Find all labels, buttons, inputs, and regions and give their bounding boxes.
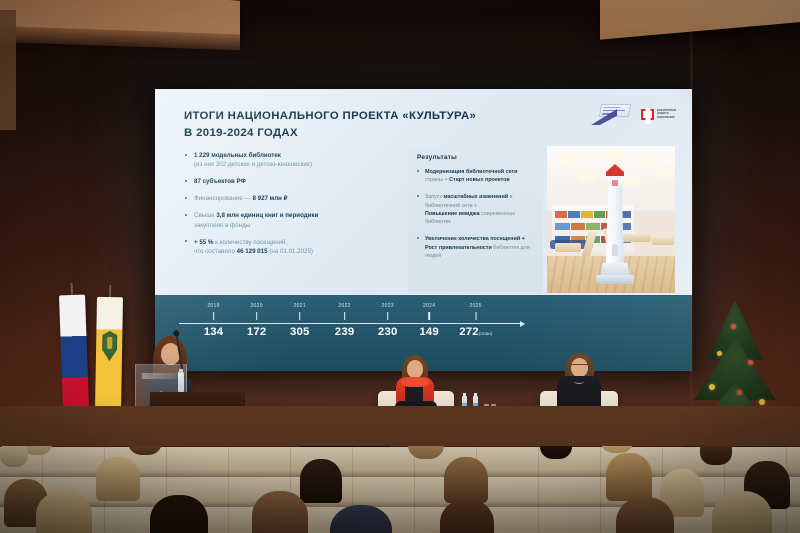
bullet-lead: Свыше bbox=[194, 212, 216, 219]
culture-project-logo-icon bbox=[591, 103, 631, 125]
bullet-lead-2: к количеству посещений, bbox=[213, 239, 287, 246]
timeline-year: 2020 bbox=[247, 303, 267, 309]
result-item: Увеличение количества посещений + Рост п… bbox=[417, 235, 534, 260]
timeline-point: 2022239 bbox=[335, 303, 355, 338]
bullet-strong: + 55 % bbox=[194, 239, 213, 246]
water-bottle bbox=[178, 372, 184, 392]
bullet-item: 87 субъектов РФ bbox=[185, 177, 415, 186]
timeline-tick bbox=[429, 312, 430, 320]
bullet-strong: 3,8 млн единиц книг и периодики bbox=[216, 212, 318, 219]
result-normal-1: Запуск bbox=[425, 194, 443, 200]
timeline-value: 134 bbox=[204, 326, 224, 338]
audience-person bbox=[606, 453, 652, 501]
bullet-sub-pre: что составило bbox=[194, 248, 237, 255]
audience-person bbox=[252, 491, 308, 533]
timeline-tick bbox=[344, 312, 345, 320]
bullet-lead: Финансирование — bbox=[194, 195, 252, 202]
ceiling-soffit-left bbox=[0, 0, 240, 43]
timeline-year: 2021 bbox=[290, 303, 310, 309]
bracket-mark-icon bbox=[641, 109, 654, 120]
timeline-value: 172 bbox=[247, 326, 267, 338]
bullet-sub: закуплено в фонды bbox=[194, 222, 250, 229]
slide-bullet-list: 1 229 модельных библиотек (из них 302 де… bbox=[185, 151, 415, 264]
timeline-point: 2021305 bbox=[290, 303, 310, 338]
audience-person bbox=[712, 491, 772, 533]
brand-line-3: ПОКОЛЕНИЯ bbox=[657, 116, 676, 120]
bullet-item: Свыше 3,8 млн единиц книг и периодики за… bbox=[185, 211, 415, 230]
timeline-tick bbox=[213, 312, 214, 320]
timeline-point: 2023230 bbox=[378, 303, 398, 338]
results-panel: Результаты Модернизация библиотечной сет… bbox=[408, 146, 543, 293]
conference-hall-scene: ИТОГИ НАЦИОНАЛЬНОГО ПРОЕКТА «КУЛЬТУРА» В… bbox=[0, 0, 800, 533]
bullet-strong: 1 229 модельных библиотек bbox=[194, 152, 281, 159]
timeline-value-note: (план) bbox=[479, 331, 492, 336]
stage-floor bbox=[0, 406, 800, 446]
timeline-tick bbox=[475, 312, 476, 320]
audience-person bbox=[150, 495, 208, 533]
bullet-item: Финансирование — 8 927 млн ₽ bbox=[185, 194, 415, 203]
bullet-strong: 87 субъектов РФ bbox=[194, 178, 246, 185]
timeline-year: 2025 bbox=[459, 303, 492, 309]
audience-person bbox=[96, 457, 140, 501]
timeline-tick bbox=[387, 312, 388, 320]
result-strong-2: Старт новых проектов bbox=[449, 177, 510, 183]
result-item: Модернизация библиотечной сети страны + … bbox=[417, 168, 534, 185]
timeline-value-number: 272 bbox=[459, 326, 479, 338]
glasses-icon bbox=[571, 364, 588, 367]
timeline-value: 230 bbox=[378, 326, 398, 338]
timeline-year: 2024 bbox=[419, 303, 439, 309]
necklace-icon bbox=[574, 378, 584, 384]
audience-person bbox=[300, 459, 342, 503]
wall-pillar-left bbox=[0, 10, 16, 130]
results-heading: Результаты bbox=[417, 154, 534, 161]
result-normal-1: страны + bbox=[425, 177, 449, 183]
audience-person bbox=[36, 491, 92, 533]
slide-title-line-2: В 2019-2024 ГОДАХ bbox=[184, 125, 514, 142]
timeline-value: 305 bbox=[290, 326, 310, 338]
bullet-item: 1 229 модельных библиотек (из них 302 де… bbox=[185, 151, 415, 170]
lighthouse-icon bbox=[595, 164, 635, 289]
timeline-value: 239 bbox=[335, 326, 355, 338]
timeline-year: 2023 bbox=[378, 303, 398, 309]
bullet-sub: (из них 302 детских и детско-юношеских) bbox=[194, 161, 312, 168]
slide: ИТОГИ НАЦИОНАЛЬНОГО ПРОЕКТА «КУЛЬТУРА» В… bbox=[155, 89, 692, 371]
bullet-sub-post: (на 01.01.2025) bbox=[268, 248, 313, 255]
timeline-year: 2022 bbox=[335, 303, 355, 309]
timeline-point: 2019134 bbox=[204, 303, 224, 338]
bullet-item: + 55 % к количеству посещений, что соста… bbox=[185, 238, 415, 257]
slide-title: ИТОГИ НАЦИОНАЛЬНОГО ПРОЕКТА «КУЛЬТУРА» В… bbox=[184, 108, 514, 141]
bullet-strong: 8 927 млн ₽ bbox=[252, 195, 287, 202]
timeline-year: 2019 bbox=[204, 303, 224, 309]
presentation-screen: ИТОГИ НАЦИОНАЛЬНОГО ПРОЕКТА «КУЛЬТУРА» В… bbox=[155, 89, 692, 371]
slide-title-line-1: ИТОГИ НАЦИОНАЛЬНОГО ПРОЕКТА «КУЛЬТУРА» bbox=[184, 108, 514, 125]
timeline-tick bbox=[256, 312, 257, 320]
result-strong-1: Модернизация библиотечной сети bbox=[425, 169, 517, 175]
result-strong-2: Повышение имиджа bbox=[425, 211, 480, 217]
timeline-point: 2020172 bbox=[247, 303, 267, 338]
bullet-sub-strong: 46 129 015 bbox=[237, 248, 268, 255]
audience-person bbox=[444, 457, 488, 503]
timeline-chart: 2019134 2020172 2021305 2022239 2023230 … bbox=[179, 303, 524, 351]
library-brand-logo-icon: БИБЛИОТЕКИ НОВОГО ПОКОЛЕНИЯ bbox=[641, 109, 676, 120]
slide-logos: БИБЛИОТЕКИ НОВОГО ПОКОЛЕНИЯ bbox=[591, 103, 676, 125]
timeline-tick bbox=[299, 312, 300, 320]
result-item: Запуск масштабных изменений в библиотечн… bbox=[417, 193, 534, 227]
audience-person bbox=[520, 493, 578, 533]
timeline-value: 149 bbox=[419, 326, 439, 338]
timeline-point: 2025272(план) bbox=[459, 303, 492, 338]
timeline-point: 2024149 bbox=[419, 303, 439, 338]
result-strong-1: масштабных изменений bbox=[443, 194, 508, 200]
timeline-value: 272(план) bbox=[459, 326, 492, 338]
